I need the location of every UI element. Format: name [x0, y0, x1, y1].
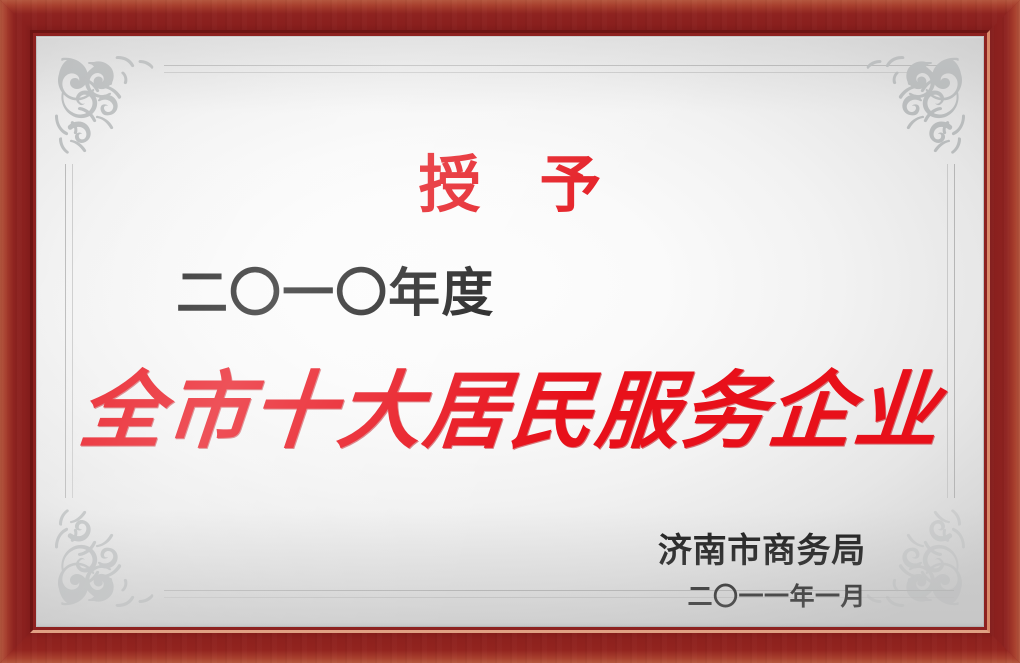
certificate-content: 授 予 二〇一〇年度 全市十大居民服务企业 济南市商务局 二〇一一年一月: [36, 36, 984, 627]
frame-right: [987, 0, 1020, 663]
award-title: 全市十大居民服务企业: [36, 366, 984, 457]
wood-grain-texture: [0, 0, 33, 663]
issue-date: 二〇一一年一月: [687, 584, 866, 609]
certificate-plate: 授 予 二〇一〇年度 全市十大居民服务企业 济南市商务局 二〇一一年一月: [36, 36, 984, 627]
frame-left: [0, 0, 33, 663]
wood-grain-texture: [0, 630, 1020, 663]
award-year: 二〇一〇年度: [176, 268, 494, 320]
wood-grain-texture: [0, 0, 1020, 33]
wood-grain-texture: [987, 0, 1020, 663]
award-verb: 授 予: [36, 154, 984, 216]
frame-bottom: [0, 630, 1020, 663]
issuer-name: 济南市商务局: [658, 534, 866, 568]
award-plaque: 授 予 二〇一〇年度 全市十大居民服务企业 济南市商务局 二〇一一年一月: [0, 0, 1020, 663]
frame-top: [0, 0, 1020, 33]
